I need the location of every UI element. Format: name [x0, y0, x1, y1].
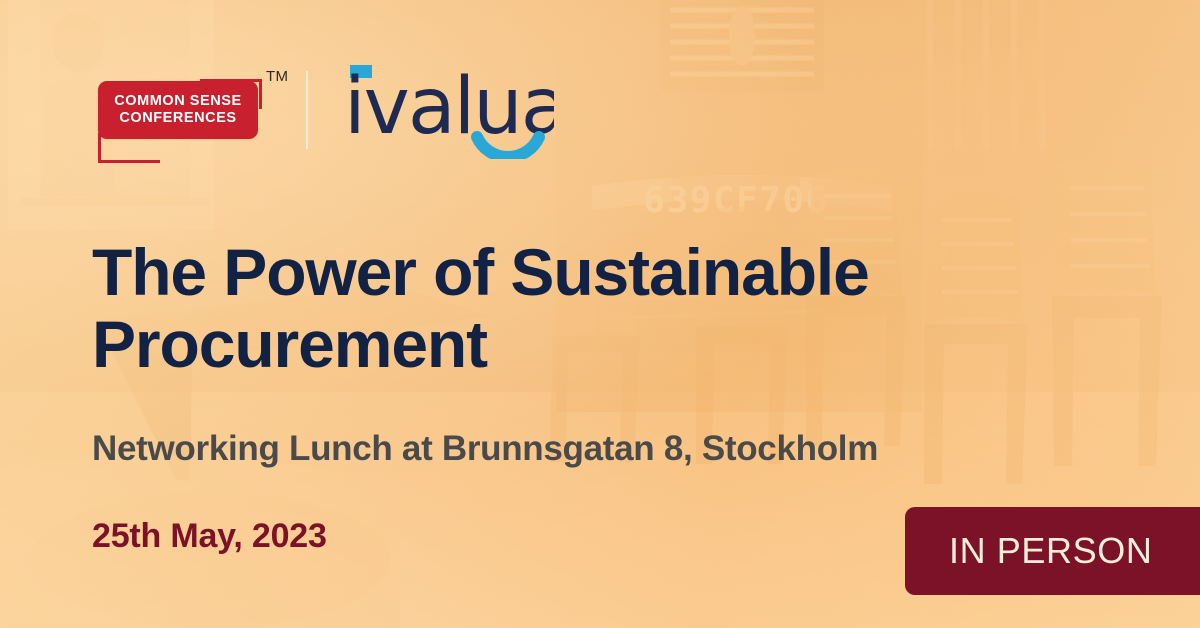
logo-bracket-top-right-vertical	[259, 79, 262, 109]
ivalua-wordmark: ivalua	[344, 62, 554, 152]
event-subtitle: Networking Lunch at Brunnsgatan 8, Stock…	[92, 428, 878, 470]
trademark-symbol: TM	[266, 68, 288, 85]
common-sense-conferences-logo[interactable]: COMMON SENSE CONFERENCES TM	[90, 55, 280, 165]
status-badge-label: IN PERSON	[905, 530, 1152, 572]
event-banner: 639CF706	[0, 0, 1200, 628]
logo-divider	[306, 71, 308, 149]
page-title: The Power of Sustainable Procurement	[92, 236, 1102, 380]
logo-line-1: COMMON SENSE	[114, 93, 241, 110]
logo-bracket-bottom-left-vertical	[98, 133, 101, 163]
logo-row: COMMON SENSE CONFERENCES TM ivalua	[90, 55, 554, 165]
ivalua-logo[interactable]: ivalua	[344, 55, 554, 165]
event-date: 25th May, 2023	[92, 515, 327, 557]
logo-bracket-bottom-left-horizontal	[98, 160, 160, 163]
logo-line-2: CONFERENCES	[119, 110, 236, 127]
logo-plate: COMMON SENSE CONFERENCES	[98, 81, 258, 139]
status-badge: IN PERSON	[905, 507, 1200, 595]
